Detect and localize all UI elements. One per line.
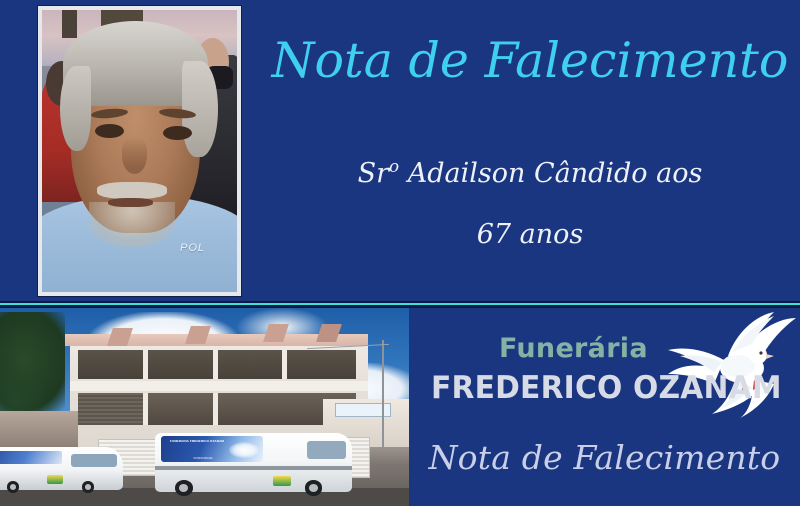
- deceased-age: 67 anos: [265, 219, 795, 250]
- section-divider: [0, 301, 800, 308]
- van-decal-title: FUNERARIA FREDERICO OZANAM: [165, 439, 228, 444]
- page-title: Nota de Falecimento: [265, 32, 795, 89]
- funeral-home-branding: Funerária FREDERICO OZANAM Nota de Falec…: [409, 308, 800, 506]
- building-mullion: [213, 350, 218, 380]
- van-logo: [47, 475, 63, 484]
- building-mullion: [143, 393, 148, 425]
- building-mullion: [143, 350, 148, 380]
- obituary-poster: POL Nota de Falecimento Sro Adailson Cân…: [0, 0, 800, 506]
- funeral-van-large: FUNERARIA FREDERICO OZANAM PATROCINIO/MG: [155, 433, 351, 492]
- deceased-honorific-ordinal: o: [389, 156, 399, 176]
- portrait-frame: POL: [38, 6, 241, 296]
- building-mullion: [213, 393, 218, 425]
- deceased-name: Sro Adailson Cândido aos: [265, 156, 795, 189]
- brand-line-name: FREDERICO OZANAM: [431, 370, 782, 406]
- van-logo: [273, 476, 291, 487]
- van-wheel: [175, 480, 193, 495]
- funeral-van-small: [0, 447, 123, 491]
- van-wheel: [82, 481, 94, 492]
- photo-nose: [122, 137, 147, 174]
- van-decal-large: FUNERARIA FREDERICO OZANAM PATROCINIO/MG: [161, 436, 263, 462]
- photo-eye-right: [163, 126, 192, 140]
- photo-watermark: POL: [180, 242, 205, 254]
- brand-tagline: Nota de Falecimento: [409, 438, 800, 477]
- van-wheel: [7, 481, 19, 492]
- photo-mouth: [108, 198, 153, 207]
- van-dove-icon: [229, 442, 260, 458]
- van-decal-city: PATROCINIO/MG: [165, 457, 241, 460]
- photo-beard: [89, 202, 175, 247]
- photo-tree-trunk: [62, 10, 78, 38]
- van-window: [71, 454, 117, 468]
- brand-line-funeraria: Funerária: [499, 333, 648, 364]
- photo-hair-right: [182, 61, 217, 157]
- divider-accent-line: [0, 303, 800, 305]
- van-stripe: [155, 466, 351, 470]
- photo-hair-left: [60, 66, 91, 151]
- van-window: [307, 441, 346, 459]
- building-mullion: [282, 350, 287, 380]
- utility-pole: [382, 340, 385, 451]
- top-section: POL Nota de Falecimento Sro Adailson Cân…: [0, 0, 800, 301]
- photo-moustache: [97, 182, 167, 199]
- building-texture-panel: [78, 393, 143, 425]
- portrait-photo: POL: [42, 10, 237, 292]
- deceased-honorific: Sr: [358, 158, 389, 189]
- building-band: [70, 381, 369, 391]
- bottom-section: FUNERARIA FREDERICO OZANAM PATROCINIO/MG: [0, 308, 800, 506]
- deceased-name-text: Adailson Cândido aos: [408, 158, 703, 189]
- building-neighbor-left: [0, 411, 78, 447]
- funeral-home-photo: FUNERARIA FREDERICO OZANAM PATROCINIO/MG: [0, 308, 409, 506]
- van-wheel: [305, 480, 323, 495]
- van-decal-small: [0, 451, 62, 464]
